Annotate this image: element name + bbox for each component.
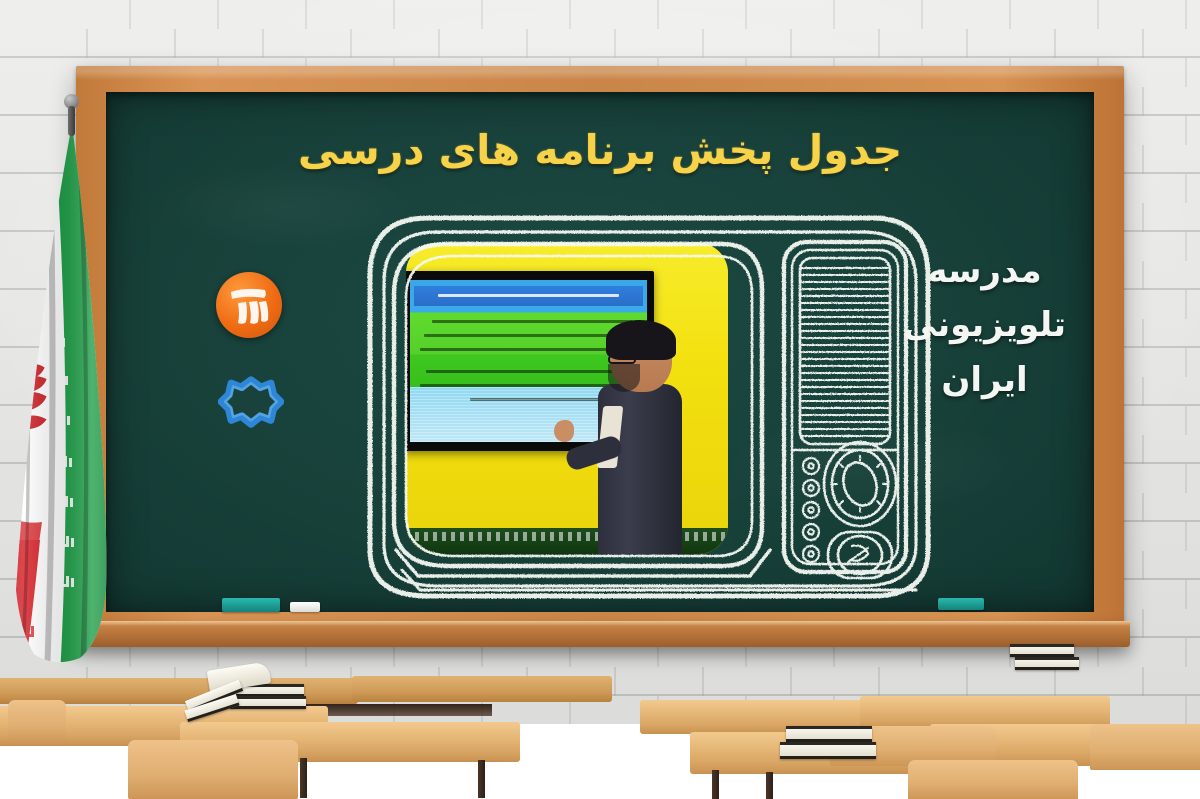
desk-leg: [478, 760, 485, 798]
iran-flag-cloth: [0, 120, 130, 676]
irib-logo: [216, 272, 282, 338]
irib-logo-glyph: [216, 272, 282, 338]
chair-left: [8, 700, 66, 744]
student-desks: [0, 640, 1200, 799]
book: [786, 726, 872, 742]
book-stack-right: [786, 726, 880, 766]
desk-leg: [712, 770, 719, 799]
flag-pole: [68, 106, 75, 136]
chair-center: [128, 740, 298, 799]
chalk-television-drawing: [356, 198, 942, 594]
desk-leg: [300, 758, 307, 798]
page-title: جدول پخش برنامه های درسی: [106, 126, 1094, 174]
desk-leg: [766, 772, 773, 799]
chalkboard-frame: جدول پخش برنامه های درسی مدرسه تلویزیونی…: [76, 66, 1124, 640]
book: [1010, 644, 1074, 657]
ministry-logo-glyph: [218, 374, 284, 440]
board-eraser: [222, 598, 280, 612]
ministry-of-education-logo: [218, 374, 284, 440]
book: [780, 742, 876, 759]
book-stack-far-right: [1010, 644, 1080, 678]
board-eraser-right: [938, 598, 984, 610]
book-stack-left-angled: [185, 682, 245, 716]
chair-right-2: [908, 760, 1078, 799]
classroom-poster: جدول پخش برنامه های درسی مدرسه تلویزیونی…: [0, 0, 1200, 799]
iran-flag: [0, 120, 130, 676]
chalkboard-surface: جدول پخش برنامه های درسی مدرسه تلویزیونی…: [106, 92, 1094, 612]
desk-back-left-b: [352, 676, 612, 702]
book: [1015, 657, 1079, 670]
chalk-tv-outline: [356, 198, 942, 594]
chalk-stick: [290, 602, 320, 612]
chair-far-right: [1090, 724, 1200, 770]
